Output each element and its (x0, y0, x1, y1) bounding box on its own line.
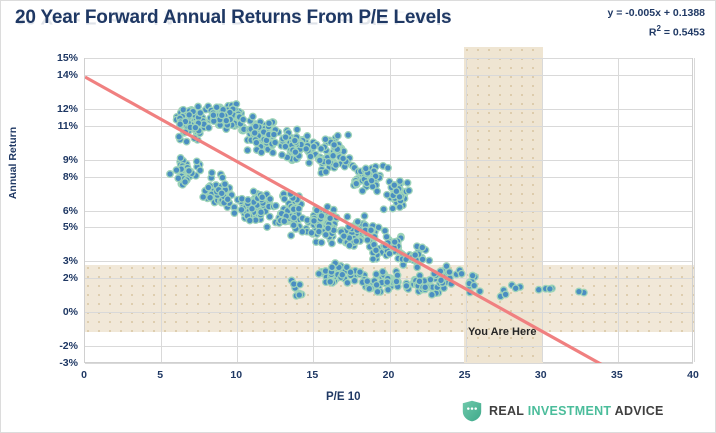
scatter-point (353, 181, 360, 188)
scatter-point (330, 212, 337, 219)
scatter-point (265, 133, 272, 140)
scatter-point (250, 129, 257, 136)
scatter-point (251, 130, 258, 137)
scatter-point (323, 225, 330, 232)
scatter-point (380, 163, 387, 170)
scatter-point (182, 166, 189, 173)
scatter-point (293, 134, 300, 141)
scatter-point (334, 146, 341, 153)
scatter-point (208, 187, 215, 194)
scatter-point (272, 139, 279, 146)
scatter-point (224, 122, 231, 129)
scatter-point (245, 197, 252, 204)
x-axis-tick-label: 25 (445, 369, 485, 381)
scatter-point (397, 198, 404, 205)
scatter-point (406, 187, 413, 194)
scatter-point (287, 204, 294, 211)
scatter-point (298, 141, 305, 148)
scatter-point (326, 214, 333, 221)
scatter-point (382, 228, 389, 235)
scatter-point (298, 201, 305, 208)
scatter-point (218, 198, 225, 205)
scatter-point (335, 145, 342, 152)
scatter-point (401, 195, 408, 202)
scatter-point (256, 124, 263, 131)
scatter-point (256, 130, 263, 137)
scatter-point (318, 223, 325, 230)
scatter-point (255, 137, 262, 144)
x-axis-tick-label: 15 (292, 369, 332, 381)
scatter-point (283, 213, 290, 220)
scatter-point (247, 207, 254, 214)
scatter-point (263, 137, 270, 144)
scatter-point (419, 254, 426, 261)
scatter-point (242, 215, 249, 222)
scatter-point (288, 156, 295, 163)
scatter-point (391, 182, 398, 189)
scatter-point (295, 144, 302, 151)
scatter-point (325, 153, 332, 160)
y-axis-tick-label: 8% (34, 172, 78, 183)
page-title: 20 Year Forward Annual Returns From P/E … (15, 7, 451, 29)
scatter-point (398, 235, 405, 242)
scatter-point (351, 243, 358, 250)
scatter-point (215, 197, 222, 204)
scatter-point (254, 134, 261, 141)
scatter-point (180, 167, 187, 174)
scatter-point (289, 199, 296, 206)
scatter-point (217, 113, 224, 120)
scatter-point (292, 143, 299, 150)
scatter-point (353, 178, 360, 185)
scatter-point (305, 219, 312, 226)
scatter-point (177, 161, 184, 168)
gridline-vertical (542, 58, 543, 362)
scatter-point (207, 183, 214, 190)
scatter-point (200, 194, 207, 201)
scatter-point (187, 168, 194, 175)
y-axis-title: Annual Return (7, 113, 19, 213)
scatter-point (328, 139, 335, 146)
scatter-point (269, 142, 276, 149)
scatter-point (258, 194, 265, 201)
scatter-point (220, 116, 227, 123)
scatter-point (276, 214, 283, 221)
scatter-point (358, 168, 365, 175)
scatter-point (238, 198, 245, 205)
scatter-point (415, 251, 422, 258)
scatter-point (215, 113, 222, 120)
scatter-point (262, 132, 269, 139)
scatter-point (252, 217, 259, 224)
scatter-point (280, 193, 287, 200)
gridline-horizontal (85, 126, 693, 127)
scatter-point (394, 241, 401, 248)
scatter-point (283, 136, 290, 143)
scatter-point (278, 142, 285, 149)
scatter-point (373, 182, 380, 189)
scatter-point (246, 213, 253, 220)
y-axis-tick-label: -3% (34, 358, 78, 369)
scatter-point (250, 188, 257, 195)
scatter-point (346, 236, 353, 243)
plot-area (84, 58, 693, 363)
scatter-point (349, 230, 356, 237)
scatter-point (218, 113, 225, 120)
scatter-point (400, 202, 407, 209)
scatter-point (412, 252, 419, 259)
scatter-point (292, 137, 299, 144)
scatter-point (210, 110, 217, 117)
scatter-point (257, 133, 264, 140)
scatter-point (290, 149, 297, 156)
scatter-point (398, 193, 405, 200)
y-axis-tick-label: 9% (34, 155, 78, 166)
scatter-point (257, 131, 264, 138)
scatter-point (177, 136, 184, 143)
x-axis-tick-label: 30 (521, 369, 561, 381)
scatter-point (356, 178, 363, 185)
scatter-point (213, 111, 220, 118)
scatter-point (255, 133, 262, 140)
scatter-point (227, 116, 234, 123)
scatter-point (254, 147, 261, 154)
scatter-point (238, 207, 245, 214)
scatter-point (185, 115, 192, 122)
scatter-point (238, 110, 245, 117)
scatter-point (176, 133, 183, 140)
scatter-point (282, 143, 289, 150)
scatter-point (252, 137, 259, 144)
scatter-point (318, 239, 325, 246)
scatter-point (394, 238, 401, 245)
scatter-point (217, 116, 224, 123)
scatter-point (323, 169, 330, 176)
scatter-point (318, 146, 325, 153)
scatter-point (257, 128, 264, 135)
scatter-point (260, 200, 267, 207)
scatter-point (399, 194, 406, 201)
scatter-point (287, 204, 294, 211)
scatter-point (302, 139, 309, 146)
scatter-point (391, 248, 398, 255)
scatter-point (324, 158, 331, 165)
y-axis-tick-label: 2% (34, 273, 78, 284)
scatter-point (290, 213, 297, 220)
gridline-vertical (161, 58, 162, 362)
scatter-point (253, 135, 260, 142)
scatter-point (403, 188, 410, 195)
scatter-point (367, 244, 374, 251)
scatter-point (323, 219, 330, 226)
scatter-point (286, 216, 293, 223)
scatter-point (288, 148, 295, 155)
brand-word-investment: INVESTMENT (528, 404, 612, 418)
scatter-point (331, 142, 338, 149)
scatter-point (393, 239, 400, 246)
scatter-point (321, 144, 328, 151)
scatter-point (255, 201, 262, 208)
scatter-point (415, 248, 422, 255)
scatter-point (205, 184, 212, 191)
scatter-point (299, 215, 306, 222)
scatter-point (317, 216, 324, 223)
gridline-horizontal (85, 109, 693, 110)
scatter-point (179, 181, 186, 188)
scatter-point (413, 256, 420, 263)
scatter-point (345, 132, 352, 139)
scatter-point (266, 131, 273, 138)
scatter-point (270, 119, 277, 126)
scatter-point (398, 233, 405, 240)
scatter-point (289, 213, 296, 220)
scatter-point (215, 187, 222, 194)
scatter-point (229, 122, 236, 129)
scatter-point (178, 109, 185, 116)
scatter-point (174, 167, 181, 174)
scatter-point (291, 204, 298, 211)
brand-logo: REAL INVESTMENT ADVICE (462, 400, 664, 422)
scatter-point (286, 200, 293, 207)
scatter-point (266, 213, 273, 220)
scatter-point (337, 146, 344, 153)
scatter-point (280, 138, 287, 145)
scatter-point (209, 170, 216, 177)
scatter-point (219, 197, 226, 204)
scatter-point (228, 112, 235, 119)
scatter-point (294, 126, 301, 133)
scatter-point (269, 141, 276, 148)
scatter-point (303, 135, 310, 142)
y-axis-tick-label: 0% (34, 307, 78, 318)
scatter-point (270, 149, 277, 156)
scatter-point (338, 227, 345, 234)
scatter-point (367, 239, 374, 246)
scatter-point (372, 229, 379, 236)
scatter-point (221, 199, 228, 206)
scatter-point (338, 160, 345, 167)
scatter-point (396, 194, 403, 201)
scatter-point (186, 112, 193, 119)
scatter-point (343, 228, 350, 235)
scatter-point (306, 149, 313, 156)
scatter-point (288, 203, 295, 210)
scatter-point (276, 220, 283, 227)
scatter-point (193, 172, 200, 179)
scatter-point (412, 252, 419, 259)
scatter-point (331, 145, 338, 152)
scatter-point (207, 115, 214, 122)
scatter-point (200, 118, 207, 125)
scatter-point (258, 140, 265, 147)
scatter-point (265, 146, 272, 153)
scatter-point (315, 156, 322, 163)
scatter-point (393, 240, 400, 247)
scatter-point (322, 155, 329, 162)
gridline-horizontal (85, 211, 693, 212)
scatter-point (188, 107, 195, 114)
scatter-point (395, 186, 402, 193)
scatter-point (404, 180, 411, 187)
scatter-point (346, 235, 353, 242)
scatter-point (183, 138, 190, 145)
scatter-point (258, 209, 265, 216)
scatter-point (257, 143, 264, 150)
scatter-point (281, 215, 288, 222)
scatter-point (294, 212, 301, 219)
you-are-here-annotation: You Are Here (468, 326, 536, 338)
scatter-point (218, 198, 225, 205)
scatter-point (224, 117, 231, 124)
scatter-point (173, 116, 180, 123)
scatter-point (280, 135, 287, 142)
shaded-region-current-valuation-band (464, 47, 543, 363)
scatter-point (323, 147, 330, 154)
scatter-point (322, 156, 329, 163)
scatter-point (185, 167, 192, 174)
scatter-point (183, 119, 190, 126)
scatter-point (179, 163, 186, 170)
scatter-point (346, 242, 353, 249)
scatter-point (259, 194, 266, 201)
scatter-point (199, 114, 206, 121)
scatter-point (220, 187, 227, 194)
scatter-point (268, 128, 275, 135)
scatter-point (343, 239, 350, 246)
scatter-point (303, 146, 310, 153)
brand-logo-text: REAL INVESTMENT ADVICE (489, 404, 664, 418)
scatter-point (277, 217, 284, 224)
scatter-point (250, 199, 257, 206)
scatter-point (333, 150, 340, 157)
scatter-point (183, 165, 190, 172)
scatter-point (329, 230, 336, 237)
scatter-point (339, 149, 346, 156)
scatter-point (330, 206, 337, 213)
scatter-point (219, 112, 226, 119)
x-axis-tick-label: 35 (597, 369, 637, 381)
scatter-point (322, 146, 329, 153)
scatter-point (260, 141, 267, 148)
scatter-point (196, 161, 203, 168)
scatter-point (352, 177, 359, 184)
scatter-point (296, 193, 303, 200)
scatter-point (186, 168, 193, 175)
scatter-point (333, 214, 340, 221)
scatter-point (304, 217, 311, 224)
scatter-point (371, 234, 378, 241)
scatter-point (397, 180, 404, 187)
scatter-point (197, 110, 204, 117)
scatter-point (296, 139, 303, 146)
scatter-point (222, 112, 229, 119)
scatter-point (304, 228, 311, 235)
scatter-point (329, 240, 336, 247)
y-axis-tick-label: 11% (34, 121, 78, 132)
scatter-point (213, 183, 220, 190)
chart-container: 20 Year Forward Annual Returns From P/E … (0, 0, 716, 433)
scatter-point (212, 194, 219, 201)
gridline-horizontal (85, 75, 693, 76)
scatter-point (285, 135, 292, 142)
scatter-point (323, 218, 330, 225)
scatter-point (330, 152, 337, 159)
scatter-point (219, 188, 226, 195)
scatter-point (244, 213, 251, 220)
scatter-point (380, 243, 387, 250)
scatter-point (214, 117, 221, 124)
scatter-point (305, 148, 312, 155)
scatter-point (219, 186, 226, 193)
scatter-point (212, 110, 219, 117)
scatter-point (326, 234, 333, 241)
scatter-point (228, 110, 235, 117)
scatter-point (293, 134, 300, 141)
scatter-point (331, 144, 338, 151)
scatter-point (363, 183, 370, 190)
scatter-point (260, 139, 267, 146)
scatter-point (270, 203, 277, 210)
scatter-point (332, 135, 339, 142)
scatter-point (263, 140, 270, 147)
scatter-point (280, 191, 287, 198)
scatter-point (337, 237, 344, 244)
scatter-point (383, 252, 390, 259)
scatter-point (247, 118, 254, 125)
scatter-point (371, 245, 378, 252)
scatter-point (207, 194, 214, 201)
scatter-point (329, 233, 336, 240)
regression-equation-block: y = -0.005x + 0.1388 R2 = 0.5453 (608, 6, 706, 41)
scatter-point (222, 181, 229, 188)
scatter-point (261, 143, 268, 150)
scatter-point (293, 139, 300, 146)
scatter-point (318, 213, 325, 220)
scatter-point (293, 141, 300, 148)
scatter-point (259, 132, 266, 139)
scatter-point (272, 127, 279, 134)
scatter-point (352, 178, 359, 185)
scatter-point (309, 148, 316, 155)
scatter-point (182, 122, 189, 129)
scatter-point (271, 131, 278, 138)
gridline-horizontal (85, 160, 693, 161)
scatter-point (322, 136, 329, 143)
scatter-point (376, 245, 383, 252)
scatter-point (224, 204, 231, 211)
scatter-point (317, 212, 324, 219)
scatter-point (326, 137, 333, 144)
scatter-point (299, 137, 306, 144)
scatter-point (246, 126, 253, 133)
scatter-point (247, 217, 254, 224)
scatter-point (257, 216, 264, 223)
scatter-point (209, 190, 216, 197)
scatter-point (297, 146, 304, 153)
scatter-point (196, 127, 203, 134)
scatter-point (294, 155, 301, 162)
scatter-point (314, 231, 321, 238)
scatter-point (341, 163, 348, 170)
scatter-point (219, 113, 226, 120)
scatter-point (247, 130, 254, 137)
scatter-point (173, 167, 180, 174)
scatter-point (207, 191, 214, 198)
scatter-point (287, 191, 294, 198)
scatter-point (191, 135, 198, 142)
scatter-point (216, 191, 223, 198)
scatter-point (254, 195, 261, 202)
